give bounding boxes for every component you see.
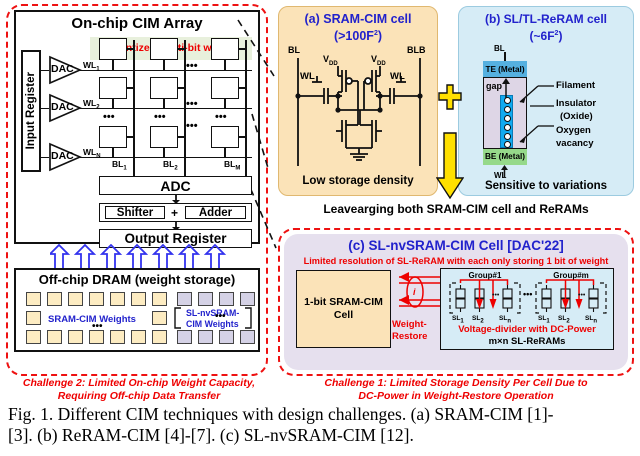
- cellleg-rnc1: [112, 148, 114, 157]
- weight-square: [26, 330, 41, 344]
- array-ellipsis-h2: •••: [186, 99, 198, 110]
- weight-square-nv: [219, 292, 234, 306]
- chip-title: On-chip CIM Array: [14, 16, 260, 31]
- dac-n-label: DAC: [51, 151, 74, 162]
- cim-cell-r2c1: [99, 77, 127, 99]
- reram-filament-label: Filament: [556, 81, 595, 91]
- weight-square-nv: [177, 330, 192, 344]
- array-ellipsis-h1: •••: [186, 61, 198, 72]
- weight-square-nv: [219, 330, 234, 344]
- wl2-sub: 2: [96, 105, 99, 111]
- sram-6t-schematic: [284, 48, 434, 168]
- weight-square: [110, 292, 125, 306]
- group-separator-ellipsis: •••: [523, 290, 532, 299]
- panel-a-title: (a) SRAM-CIM cell: [278, 13, 438, 26]
- cellleg-r2c1: [112, 99, 114, 108]
- bl1-text: BL: [112, 159, 123, 169]
- bitline-1: [133, 40, 135, 178]
- cellstub-r1c1: [127, 48, 134, 50]
- cellstub-r2c2: [178, 87, 185, 89]
- cellstub-r1c2: [178, 48, 185, 50]
- figure-caption: Fig. 1. Different CIM techniques with de…: [8, 404, 634, 447]
- panel-c-title: (c) SL-nvSRAM-CIM Cell [DAC'22]: [284, 239, 628, 253]
- bitline-1-label: BL1: [112, 160, 127, 172]
- cellleg-rncm: [224, 148, 226, 157]
- weight-square: [131, 330, 146, 344]
- weight-restore-label-1: Weight-: [392, 320, 427, 330]
- reram-insulator-label-1: Insulator: [556, 99, 596, 109]
- adder-block: Adder: [185, 206, 246, 219]
- panel-a-vdd-left: VDD: [323, 55, 338, 67]
- wordline-2-label: WL2: [83, 99, 100, 111]
- challenge1-line2: DC-Power in Weight-Restore Operation: [278, 391, 634, 402]
- cellleg-r1cm: [224, 60, 226, 70]
- panel-a-blb-label: BLB: [407, 46, 426, 55]
- reram-gap-label: gap: [486, 82, 502, 91]
- cim-cell-rnc1: [99, 126, 127, 148]
- svg-text:•••: •••: [578, 292, 586, 299]
- cellleg-r1c2: [163, 60, 165, 70]
- vdd-left-sub: DD: [329, 61, 338, 67]
- wire-ireg-dac1: [41, 70, 49, 72]
- challenge2-line1: Challenge 2: Limited On-chip Weight Capa…: [6, 378, 272, 389]
- wordline-n: [80, 157, 252, 159]
- current-symbol: i: [413, 288, 416, 297]
- group-m-label: Group#m: [534, 272, 608, 280]
- panel-a-wl-right: WL: [390, 72, 405, 82]
- panel-a-bl-label: BL: [288, 46, 300, 55]
- one-bit-sram-cim-cell: 1-bit SRAM-CIM Cell: [296, 270, 391, 348]
- svg-text:•••: •••: [492, 292, 500, 299]
- challenge2-line2: Requiring Off-chip Data Transfer: [6, 391, 272, 402]
- bitline-2-label: BL2: [163, 160, 178, 172]
- voltage-divider-note: Voltage-divider with DC-Power: [440, 325, 614, 335]
- nv-weights-bracket: [173, 307, 253, 329]
- panel-b-area-close: ): [558, 29, 562, 43]
- plus-icon: [438, 84, 462, 110]
- panel-b-area: (~6F2): [458, 30, 634, 42]
- cim-cell-r1c2: [150, 38, 178, 60]
- weight-square-nv: [198, 330, 213, 344]
- wl2-text: WL: [83, 98, 96, 108]
- weight-square-nv: [198, 292, 213, 306]
- cim-cell-line1: 1-bit SRAM-CIM: [304, 296, 383, 309]
- array-ellipsis-v2: •••: [154, 112, 166, 123]
- weight-square: [131, 292, 146, 306]
- adder-label: Adder: [199, 207, 232, 219]
- weight-square: [47, 330, 62, 344]
- callout-lines: [236, 18, 280, 258]
- weight-restore-label-2: Restore: [392, 332, 427, 342]
- group-1-label: Group#1: [448, 272, 522, 280]
- reram-vacancy-label-1: Oxygen: [556, 126, 591, 136]
- adc-label: ADC: [160, 178, 190, 194]
- weight-square: [47, 292, 62, 306]
- challenge1-line1: Challenge 1: Limited Storage Density Per…: [278, 378, 634, 389]
- array-ellipsis-h3: •••: [186, 121, 198, 132]
- weight-square: [68, 330, 83, 344]
- panel-a-wl-left: WL: [300, 72, 315, 82]
- cim-cell-r1cm: [211, 38, 239, 60]
- cim-cell-r2c2: [150, 77, 178, 99]
- cellstub-r2c1: [127, 87, 134, 89]
- dac-2-label: DAC: [51, 102, 74, 113]
- panel-b-title: (b) SL/TL-ReRAM cell: [458, 13, 634, 25]
- cellstub-rnc1: [127, 136, 134, 138]
- cim-cell-line2: Cell: [304, 309, 383, 322]
- panel-a-footer: Low storage density: [278, 176, 438, 188]
- shifter-label: Shifter: [117, 207, 153, 219]
- adc-block: ADC: [99, 176, 252, 195]
- array-size-label: m×n SL-ReRAMs: [440, 337, 614, 347]
- wordline-2: [80, 108, 252, 110]
- panel-a-vdd-right: VDD: [371, 55, 386, 67]
- weight-square: [68, 292, 83, 306]
- array-ellipsis-v3: •••: [215, 112, 227, 123]
- bl1-sub: 1: [123, 166, 126, 172]
- dram-title: Off-chip DRAM (weight storage): [14, 273, 260, 286]
- weight-square: [89, 292, 104, 306]
- shifter-block: Shifter: [105, 206, 165, 219]
- wire-ireg-dac2: [41, 108, 49, 110]
- caption-line-1: Fig. 1. Different CIM techniques with de…: [8, 404, 634, 425]
- bl2-sub: 2: [174, 166, 177, 172]
- weight-square: [152, 311, 167, 325]
- leverage-text: Leavearging both SRAM-CIM cell and ReRAM…: [278, 203, 634, 215]
- weight-square: [26, 292, 41, 306]
- vdd-right-sub: DD: [377, 61, 386, 67]
- blm-text: BL: [224, 159, 235, 169]
- weight-square-nv: [240, 330, 255, 344]
- panel-b-wl-label: WL: [494, 172, 506, 180]
- wordline-1: [80, 70, 252, 72]
- array-ellipsis-v1: •••: [103, 112, 115, 123]
- weight-square-nv: [240, 292, 255, 306]
- wordline-n-label: WLN: [83, 148, 101, 160]
- plus-sign: +: [171, 207, 178, 219]
- weight-restore-arrows: [389, 272, 443, 314]
- cim-cell-r2cm: [211, 77, 239, 99]
- figure-root: On-chip CIM Array Quantized multi-bit we…: [0, 0, 640, 456]
- cellleg-r2cm: [224, 99, 226, 108]
- reram-vacancy-label-2: vacancy: [556, 139, 594, 149]
- panel-a-area: (>100F2): [278, 30, 438, 43]
- wl1-text: WL: [83, 60, 96, 70]
- wln-sub: N: [96, 154, 100, 160]
- panel-a-area-value: (>100F: [334, 29, 374, 43]
- reram-leader-lines: [508, 82, 564, 162]
- panel-b-area-value: (~6F: [530, 29, 555, 43]
- input-register-label: Input Register: [25, 72, 37, 149]
- weight-square: [110, 330, 125, 344]
- weight-square: [152, 330, 167, 344]
- weight-square: [152, 292, 167, 306]
- panel-b-footer: Sensitive to variations: [458, 181, 634, 193]
- cim-cell-rnc2: [150, 126, 178, 148]
- panel-a-area-close: ): [378, 29, 382, 43]
- bl2-text: BL: [163, 159, 174, 169]
- reram-insulator-label-2: (Oxide): [560, 112, 593, 122]
- weight-square: [89, 330, 104, 344]
- wln-text: WL: [83, 147, 96, 157]
- cim-cell-r1c1: [99, 38, 127, 60]
- dac-1-label: DAC: [51, 64, 74, 75]
- cellleg-r1c1: [112, 60, 114, 70]
- wl1-sub: 1: [96, 67, 99, 73]
- input-register: Input Register: [21, 50, 41, 172]
- cim-cell-rncm: [211, 126, 239, 148]
- down-arrow-icon: [436, 132, 464, 200]
- cellleg-r2c2: [163, 99, 165, 108]
- reram-te-label: TE (Metal): [483, 66, 527, 74]
- weight-square: [26, 311, 41, 325]
- caption-line-2: [3]. (b) ReRAM-CIM [4]-[7]. (c) SL-nvSRA…: [8, 425, 634, 446]
- panel-c-subtitle: Limited resolution of SL-ReRAM with each…: [284, 257, 628, 266]
- wordline-1-label: WL1: [83, 61, 100, 73]
- cellleg-rnc2: [163, 148, 165, 157]
- cellstub-rnc2: [178, 136, 185, 138]
- wire-ireg-dacn: [41, 157, 49, 159]
- weight-square-nv: [177, 292, 192, 306]
